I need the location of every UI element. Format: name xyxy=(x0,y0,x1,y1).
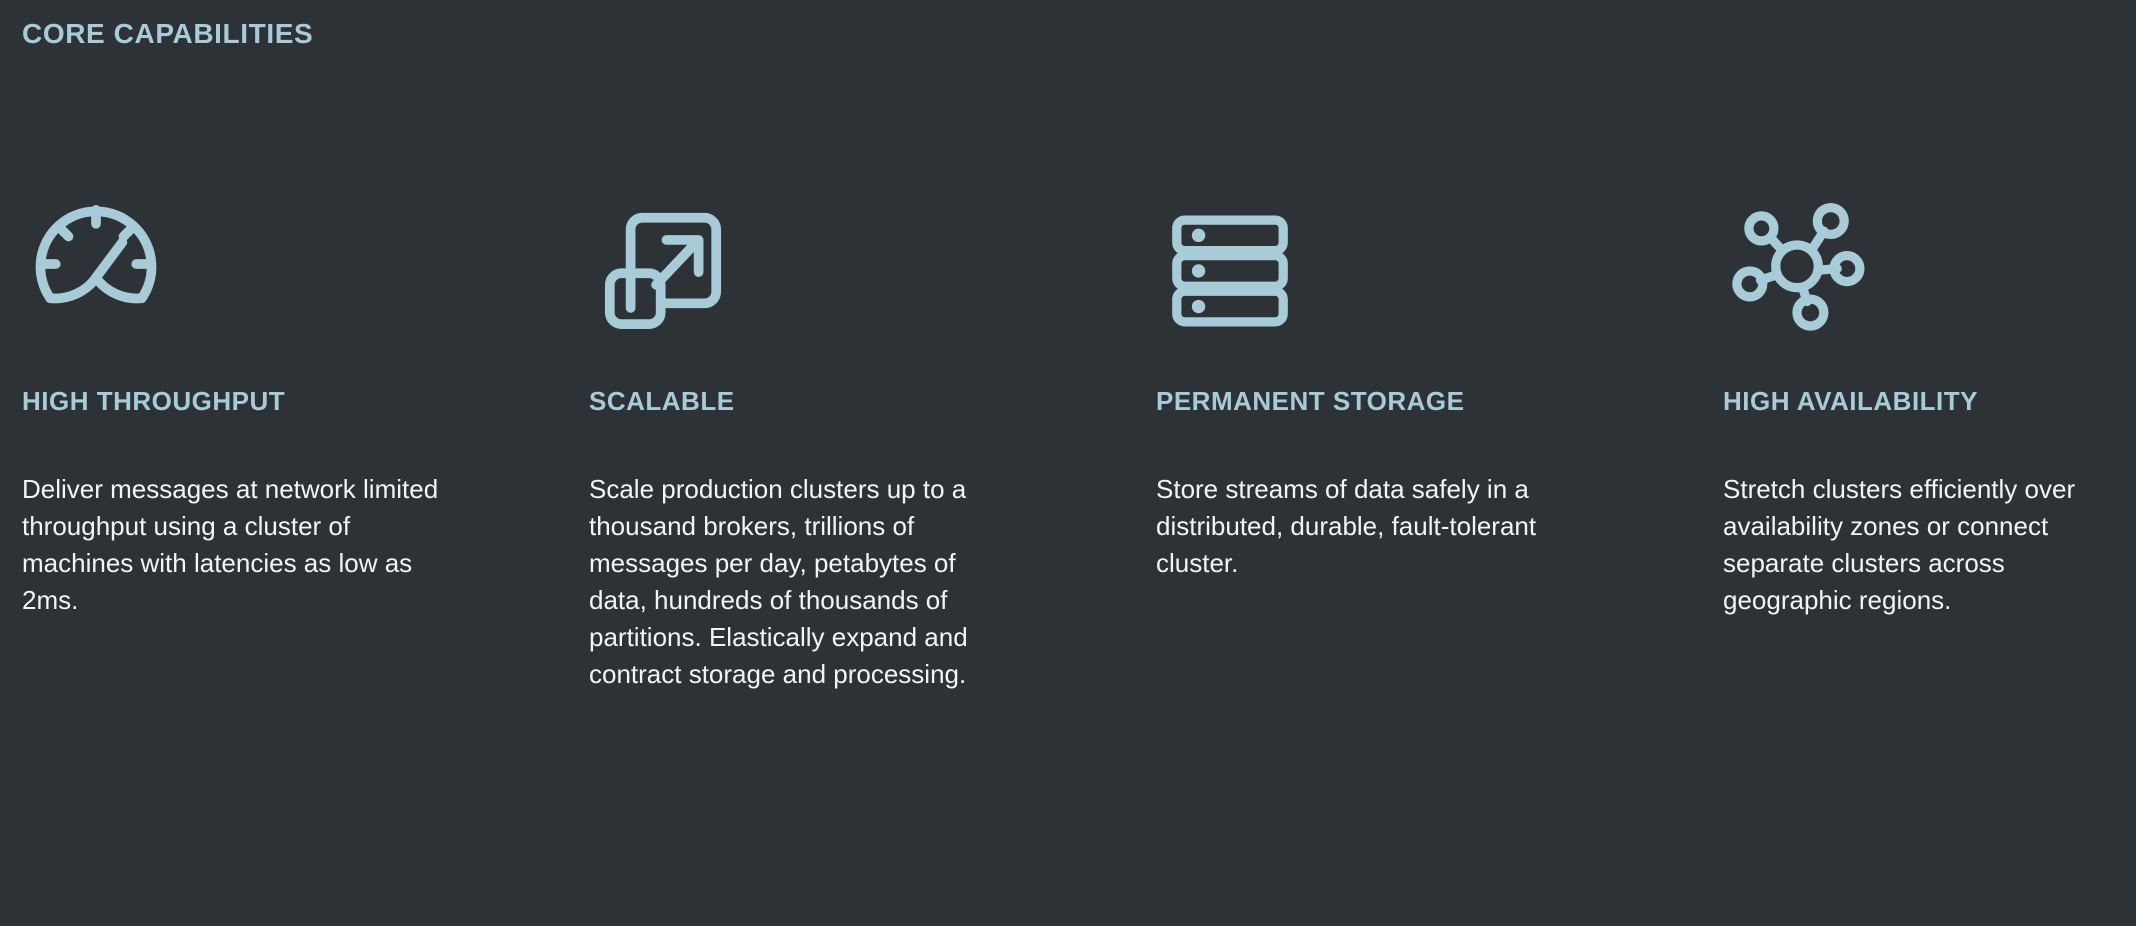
capability-heading: HIGH AVAILABILITY xyxy=(1723,386,2136,417)
capability-card-scalable: SCALABLE Scale production clusters up to… xyxy=(589,190,1156,693)
core-capabilities-section: CORE CAPABILITIES HIGH THR xyxy=(0,0,2136,926)
page-title: CORE CAPABILITIES xyxy=(22,17,313,51)
capability-card-high-availability: HIGH AVAILABILITY Stretch clusters effic… xyxy=(1723,190,2136,693)
capability-card-high-throughput: HIGH THROUGHPUT Deliver messages at netw… xyxy=(22,190,589,693)
network-hub-icon xyxy=(1723,190,2136,350)
capability-grid: HIGH THROUGHPUT Deliver messages at netw… xyxy=(22,190,2114,693)
capability-description: Store streams of data safely in a distri… xyxy=(1156,471,1586,582)
capability-heading: SCALABLE xyxy=(589,386,1096,417)
scale-expand-icon xyxy=(589,190,1096,350)
capability-heading: HIGH THROUGHPUT xyxy=(22,386,529,417)
speedometer-icon xyxy=(22,190,529,350)
capability-description: Scale production clusters up to a thousa… xyxy=(589,471,1009,692)
server-stack-icon xyxy=(1156,190,1663,350)
capability-description: Stretch clusters efficiently over availa… xyxy=(1723,471,2133,619)
capability-card-permanent-storage: PERMANENT STORAGE Store streams of data … xyxy=(1156,190,1723,693)
capability-description: Deliver messages at network limited thro… xyxy=(22,471,442,619)
capability-heading: PERMANENT STORAGE xyxy=(1156,386,1663,417)
